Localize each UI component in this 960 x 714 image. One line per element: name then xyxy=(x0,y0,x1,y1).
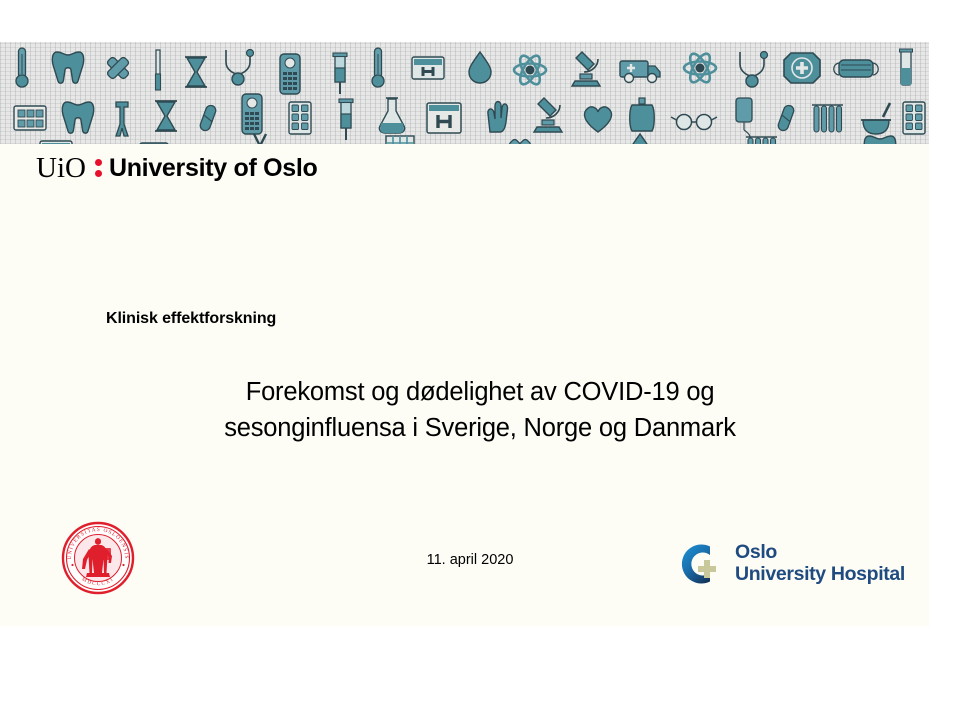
medical-icons-banner xyxy=(0,42,929,144)
title-line-1: Forekomst og dødelighet av COVID-19 og xyxy=(110,374,850,410)
uio-wordmark: UiO University of Oslo xyxy=(36,152,318,184)
uio-mark-text: UiO xyxy=(36,154,86,183)
ous-wordmark: Oslo University Hospital xyxy=(735,542,905,586)
uio-name-text: University of Oslo xyxy=(109,156,318,181)
ous-line-1: Oslo xyxy=(735,542,905,564)
oslo-university-hospital-logo: Oslo University Hospital xyxy=(676,540,905,588)
presentation-slide: UiO University of Oslo Klinisk effektfor… xyxy=(0,0,960,714)
page-title: Forekomst og dødelighet av COVID-19 og s… xyxy=(110,374,850,446)
uio-seal: UNIVERSITAS OSLOENSIS MDCCCXI xyxy=(61,521,135,595)
ous-line-2: University Hospital xyxy=(735,564,905,586)
banner-icon-pattern xyxy=(0,42,929,144)
department-heading: Klinisk effektforskning xyxy=(106,310,276,328)
title-line-2: sesonginfluensa i Sverige, Norge og Danm… xyxy=(110,410,850,446)
uio-colon-icon xyxy=(95,159,102,178)
ous-arc-cross-icon xyxy=(676,540,724,588)
slide-date: 11. april 2020 xyxy=(330,552,610,568)
